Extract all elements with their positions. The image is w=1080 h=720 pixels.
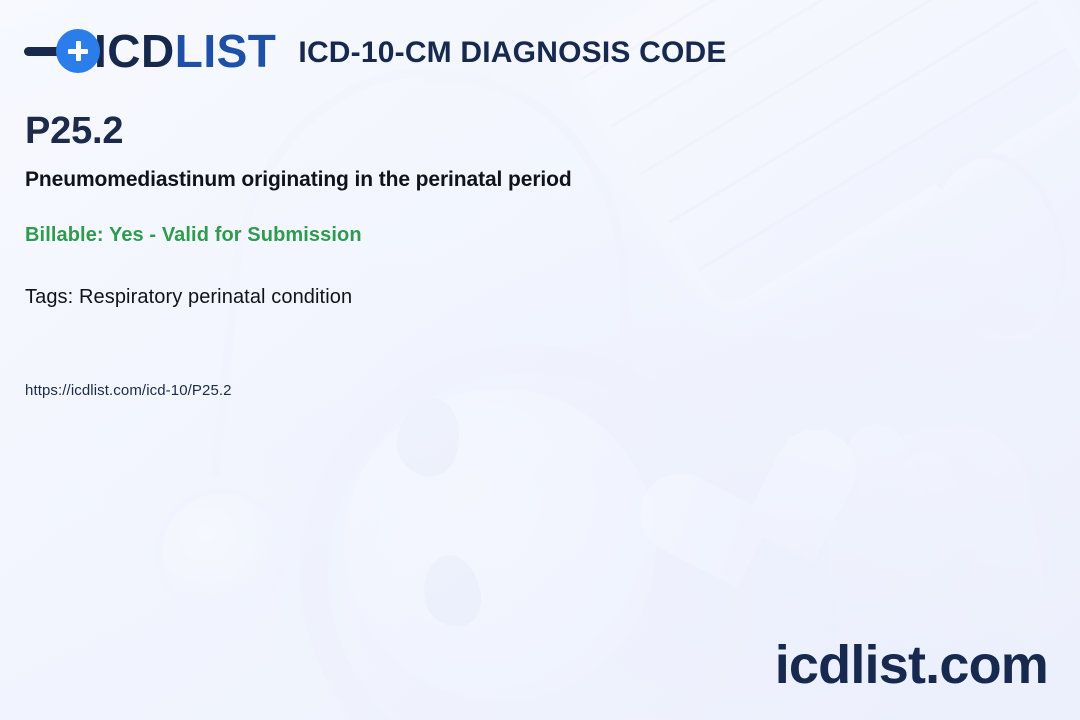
- card-content: ICDLIST ICD-10-CM DIAGNOSIS CODE P25.2 P…: [0, 0, 1080, 720]
- logo-word-list: LIST: [175, 25, 277, 77]
- source-url[interactable]: https://icdlist.com/icd-10/P25.2: [25, 382, 232, 399]
- logo-word-icd: ICD: [94, 25, 175, 77]
- header-title: ICD-10-CM DIAGNOSIS CODE: [298, 32, 726, 70]
- tags-line: Tags: Respiratory perinatal condition: [25, 286, 352, 309]
- page-header: ICDLIST ICD-10-CM DIAGNOSIS CODE: [24, 26, 727, 76]
- diagnosis-description: Pneumomediastinum originating in the per…: [25, 167, 572, 192]
- icd-code-card: ICDLIST ICD-10-CM DIAGNOSIS CODE P25.2 P…: [0, 0, 1080, 720]
- icdlist-logo[interactable]: ICDLIST: [24, 26, 276, 76]
- site-watermark: icdlist.com: [775, 638, 1048, 692]
- plus-circle-icon: [56, 29, 100, 73]
- logo-wordmark: ICDLIST: [94, 28, 276, 74]
- billable-status-badge: Billable: Yes - Valid for Submission: [25, 224, 362, 247]
- diagnosis-code: P25.2: [25, 112, 123, 152]
